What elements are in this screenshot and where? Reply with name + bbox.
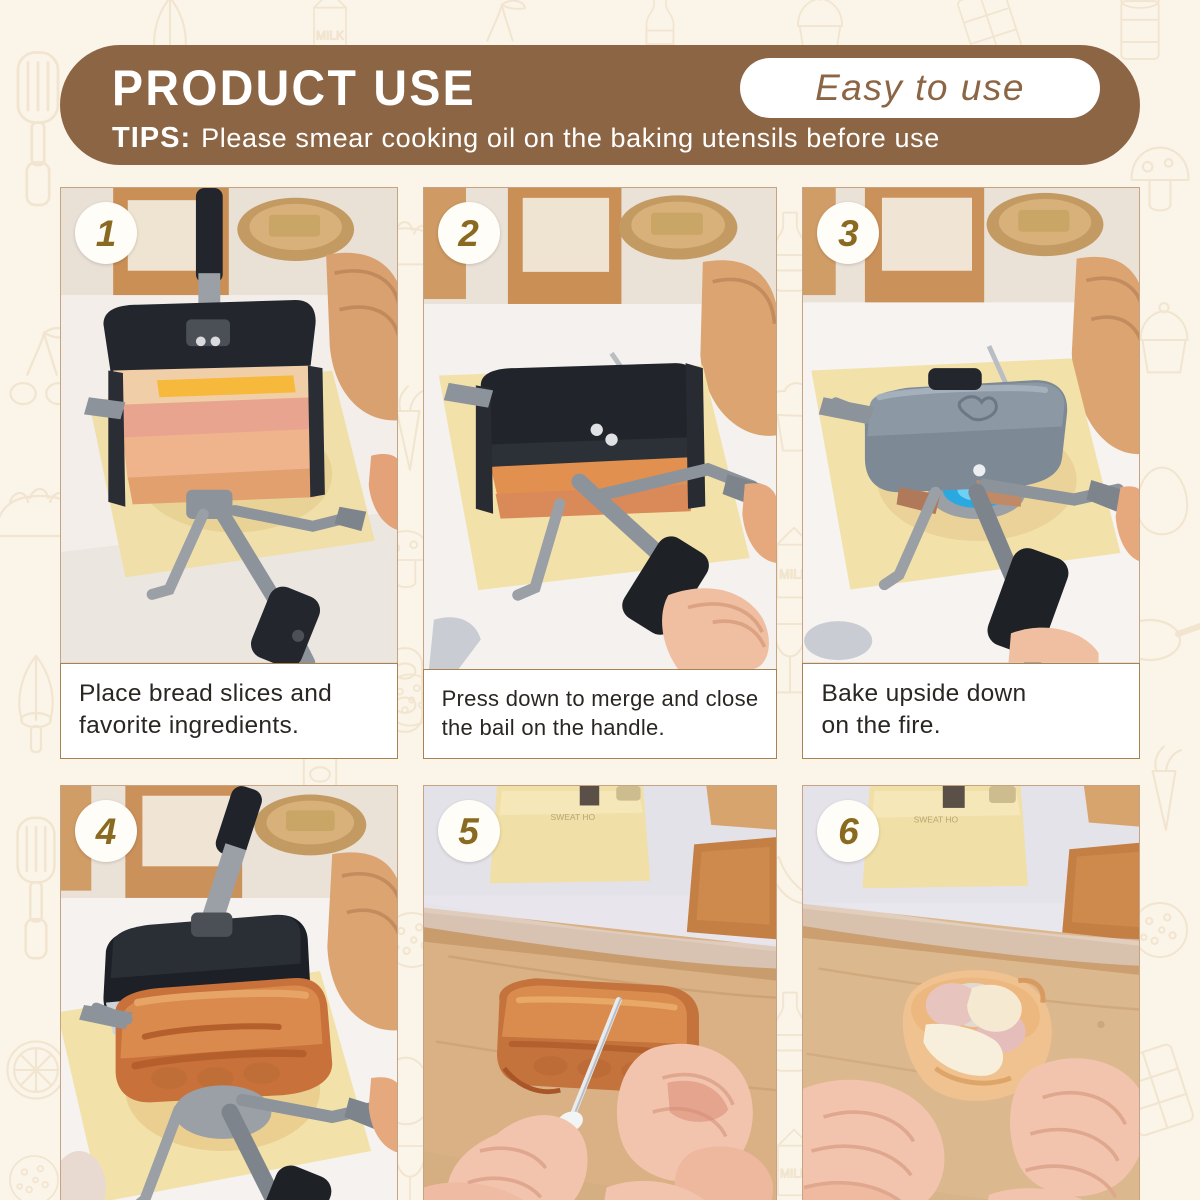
step-caption-2: Press down to merge and close the bail o… — [423, 669, 778, 759]
tips-label: TIPS: — [112, 122, 191, 155]
step-4-photo: 4 — [60, 785, 398, 1200]
caption-line: Bake upside down — [821, 678, 1026, 710]
step-card-5: 5 SWEAT HO — [423, 785, 778, 1200]
page-title: PRODUCT USE — [112, 63, 476, 113]
step-badge-3: 3 — [817, 202, 879, 264]
caption-line: the bail on the handle. — [442, 713, 759, 742]
step-badge-4: 4 — [75, 800, 137, 862]
step-number-4: 4 — [96, 813, 117, 850]
step-badge-5: 5 — [438, 800, 500, 862]
step-number-6: 6 — [838, 813, 859, 850]
infographic-page: PRODUCT USE Easy to use TIPS: Please sme… — [0, 0, 1200, 1200]
step-card-2: 2 — [423, 187, 778, 759]
step-1-photo: 1 — [60, 187, 398, 663]
steps-grid: 1 — [60, 187, 1140, 1200]
easy-to-use-label: Easy to use — [815, 69, 1025, 106]
caption-line: Press down to merge and close — [442, 684, 759, 713]
svg-text:SWEAT HO: SWEAT HO — [914, 815, 959, 825]
caption-line: on the fire. — [821, 710, 940, 742]
caption-line: favorite ingredients. — [79, 710, 379, 742]
tips-row: TIPS: Please smear cooking oil on the ba… — [112, 122, 1106, 155]
step-badge-2: 2 — [438, 202, 500, 264]
step-caption-1: Place bread slices and favorite ingredie… — [60, 663, 398, 760]
step-number-3: 3 — [838, 215, 859, 252]
step-number-5: 5 — [458, 813, 479, 850]
header-top-row: PRODUCT USE Easy to use — [112, 57, 1106, 118]
step-3-photo: 3 — [802, 187, 1140, 663]
step-card-3: 3 — [802, 187, 1140, 759]
step-number-1: 1 — [96, 215, 117, 252]
caption-line: Place bread slices and — [79, 678, 379, 710]
step-number-2: 2 — [458, 215, 479, 252]
step-card-6: 6 SWEAT HO — [802, 785, 1140, 1200]
easy-to-use-badge: Easy to use — [740, 58, 1100, 118]
step-card-1: 1 — [60, 187, 398, 759]
step-caption-3: Bake upside down on the fire. — [802, 663, 1140, 760]
step-card-4: 4 — [60, 785, 398, 1200]
step-badge-1: 1 — [75, 202, 137, 264]
svg-text:SWEAT HO: SWEAT HO — [550, 812, 595, 822]
step-5-photo: 5 SWEAT HO — [423, 785, 778, 1200]
header-bar: PRODUCT USE Easy to use TIPS: Please sme… — [60, 45, 1140, 165]
tips-text: Please smear cooking oil on the baking u… — [201, 123, 940, 154]
step-6-photo: 6 SWEAT HO — [802, 785, 1140, 1200]
step-2-photo: 2 — [423, 187, 778, 669]
